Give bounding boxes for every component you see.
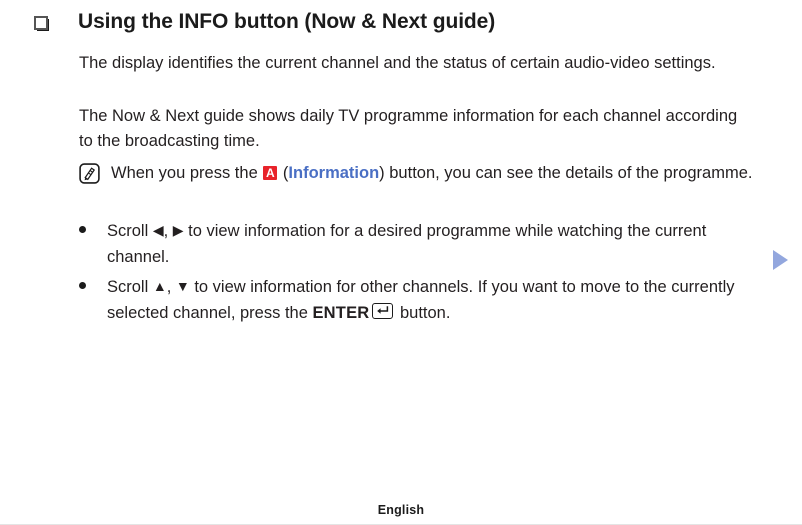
page-heading: Using the INFO button (Now & Next guide) [34, 8, 762, 36]
page-footer: English [0, 501, 802, 519]
bullet-1-suffix: to view information for a desired progra… [107, 222, 706, 266]
note-text-tail: button, you can see the details of the p… [385, 164, 753, 182]
next-page-arrow-icon[interactable] [773, 250, 788, 270]
a-button-badge: A [263, 166, 277, 180]
square-bullet-icon [34, 16, 49, 31]
enter-button-label: ENTER [312, 304, 369, 322]
bullet-2-text: Scroll ▲, ▼ to view information for othe… [107, 273, 769, 326]
note-pencil-icon [79, 163, 100, 184]
footer-language-label: English [378, 503, 425, 517]
intro-paragraph-2: The Now & Next guide shows daily TV prog… [79, 104, 751, 154]
intro-paragraph-1: The display identifies the current chann… [79, 51, 751, 76]
bullet-list-item-2: Scroll ▲, ▼ to view information for othe… [79, 273, 769, 326]
page-title: Using the INFO button (Now & Next guide) [78, 8, 495, 36]
arrow-up-icon: ▲ [153, 278, 167, 294]
dot-bullet-icon [79, 226, 86, 233]
arrow-down-icon: ▼ [176, 278, 190, 294]
manual-page: Using the INFO button (Now & Next guide)… [0, 0, 802, 525]
arrow-right-icon: ▶ [173, 222, 184, 238]
bullet-1-separator: , [164, 222, 173, 240]
arrow-left-icon: ◀ [153, 222, 164, 238]
bullet-2-separator: , [167, 278, 176, 296]
information-label: Information [288, 164, 379, 182]
dot-bullet-icon [79, 282, 86, 289]
note-text-lead: When you press the [111, 164, 262, 182]
note-block: When you press the A (Information) butto… [79, 161, 754, 186]
bullet-2-suffix-b: button. [395, 304, 450, 322]
note-text: When you press the A (Information) butto… [111, 161, 752, 186]
enter-return-key-icon [372, 303, 393, 319]
bullet-1-text: Scroll ◀, ▶ to view information for a de… [107, 217, 769, 270]
bullet-2-prefix: Scroll [107, 278, 153, 296]
bullet-list-item-1: Scroll ◀, ▶ to view information for a de… [79, 217, 769, 270]
bullet-1-prefix: Scroll [107, 222, 153, 240]
